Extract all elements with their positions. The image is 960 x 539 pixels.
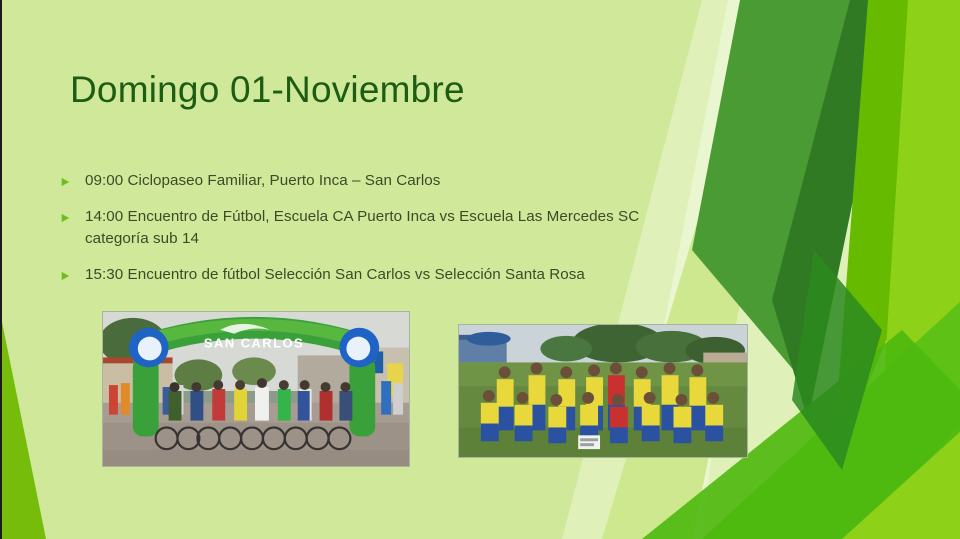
- right-bright-green-wedge: [832, 0, 960, 470]
- list-item: 09:00 Ciclopaseo Familiar, Puerto Inca –…: [60, 170, 660, 192]
- list-item: 15:30 Encuentro de fútbol Selección San …: [60, 264, 660, 286]
- photo-cyclists-under-san-carlos-arch: SAN CARLOS: [102, 311, 410, 467]
- list-item-label: 09:00 Ciclopaseo Familiar, Puerto Inca –…: [85, 170, 660, 192]
- list-item: 14:00 Encuentro de Fútbol, Escuela CA Pu…: [60, 206, 660, 250]
- svg-text:SAN CARLOS: SAN CARLOS: [204, 336, 304, 351]
- triangle-right-bullet-icon: [60, 213, 72, 223]
- bottom-left-green-wedge: [2, 322, 46, 539]
- list-item-label: 14:00 Encuentro de Fútbol, Escuela CA Pu…: [85, 206, 660, 250]
- triangle-right-bullet-icon: [60, 177, 72, 187]
- page-title: Domingo 01-Noviembre: [70, 68, 465, 112]
- list-item-label: 15:30 Encuentro de fútbol Selección San …: [85, 264, 660, 286]
- right-medium-green-wedge: [692, 0, 868, 380]
- right-dark-green-wedge: [772, 0, 894, 420]
- triangle-right-bullet-icon: [60, 271, 72, 281]
- photo-football-team-group: [458, 324, 748, 458]
- agenda-list: 09:00 Ciclopaseo Familiar, Puerto Inca –…: [60, 170, 660, 300]
- bottom-right-bright-wedge: [842, 430, 960, 539]
- right-center-dark-accent: [792, 250, 882, 470]
- right-outer-light-green-wedge: [874, 0, 960, 539]
- presentation-slide: Domingo 01-Noviembre 09:00 Ciclopaseo Fa…: [0, 0, 960, 539]
